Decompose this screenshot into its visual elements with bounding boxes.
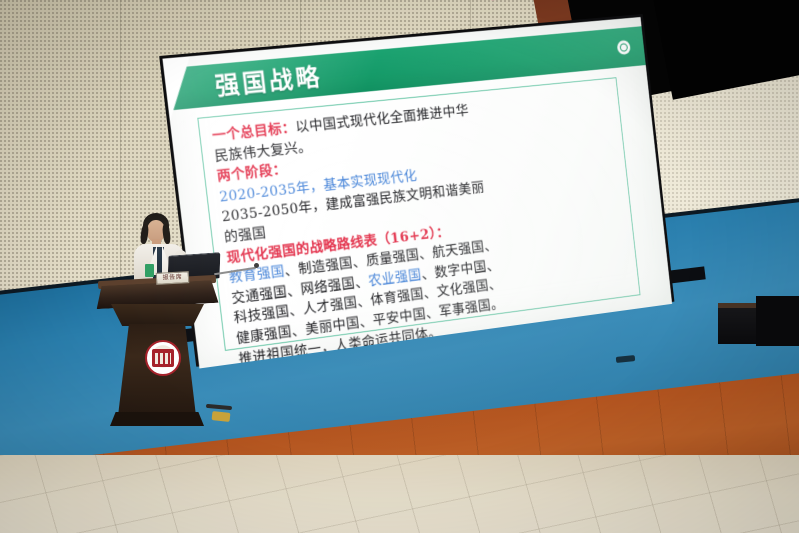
podium-base [110,412,204,426]
floor-connector [212,411,231,422]
slide-title: 强国战略 [213,58,324,103]
lecture-hall-scene: 强国战略 一个总目标：以中国式现代化全面推进中华民族伟大复兴。两个阶段：2020… [0,0,799,533]
circular-green-logo-icon [617,40,631,55]
slide-body-box: 一个总目标：以中国式现代化全面推进中华民族伟大复兴。两个阶段：2020-2035… [197,77,640,351]
podium-nameplate-text: 报告席 [163,274,183,281]
speaker-hair-left [140,224,149,245]
hall-floor [0,455,799,533]
university-seal-emblem-icon [145,340,181,376]
slide-text-segment: 的强国 [223,225,267,246]
podium-nameplate: 报告席 [156,271,190,285]
microphone-head-icon [254,263,259,268]
speaker-hair-right [162,224,171,245]
podium-neck [111,304,204,326]
speaker-badge [145,264,154,277]
back-equipment-2 [756,296,799,346]
podium: 报告席 [96,256,218,436]
